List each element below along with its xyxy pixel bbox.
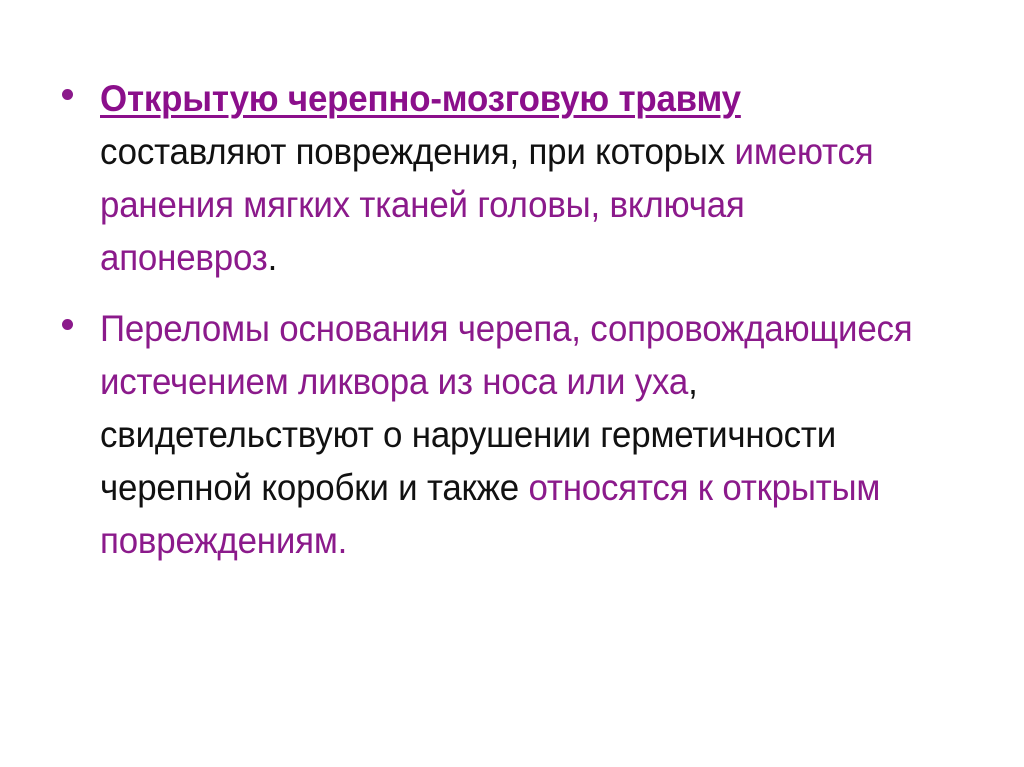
list-item: Переломы основания черепа, сопровождающи… (55, 302, 985, 567)
list-item: Открытую черепно-мозговую травму составл… (55, 72, 985, 284)
bullet-1-heading-run: Открытую черепно-мозговую травму (100, 77, 741, 119)
bullet-2-purple-run-1: Переломы основания черепа, сопровождающи… (100, 307, 912, 402)
slide-canvas: Открытую черепно-мозговую травму составл… (0, 0, 1024, 767)
bullet-dot-icon (62, 89, 73, 100)
bullet-paragraph-1: Открытую черепно-мозговую травму составл… (100, 72, 985, 284)
bullet-1-black-run-2: . (268, 236, 278, 278)
bullet-paragraph-2: Переломы основания черепа, сопровождающи… (100, 302, 985, 567)
bullet-1-black-run-1: составляют повреждения, при которых (100, 130, 725, 172)
bullet-dot-icon (62, 319, 73, 330)
slide-content-placeholder: Открытую черепно-мозговую травму составл… (55, 72, 985, 581)
